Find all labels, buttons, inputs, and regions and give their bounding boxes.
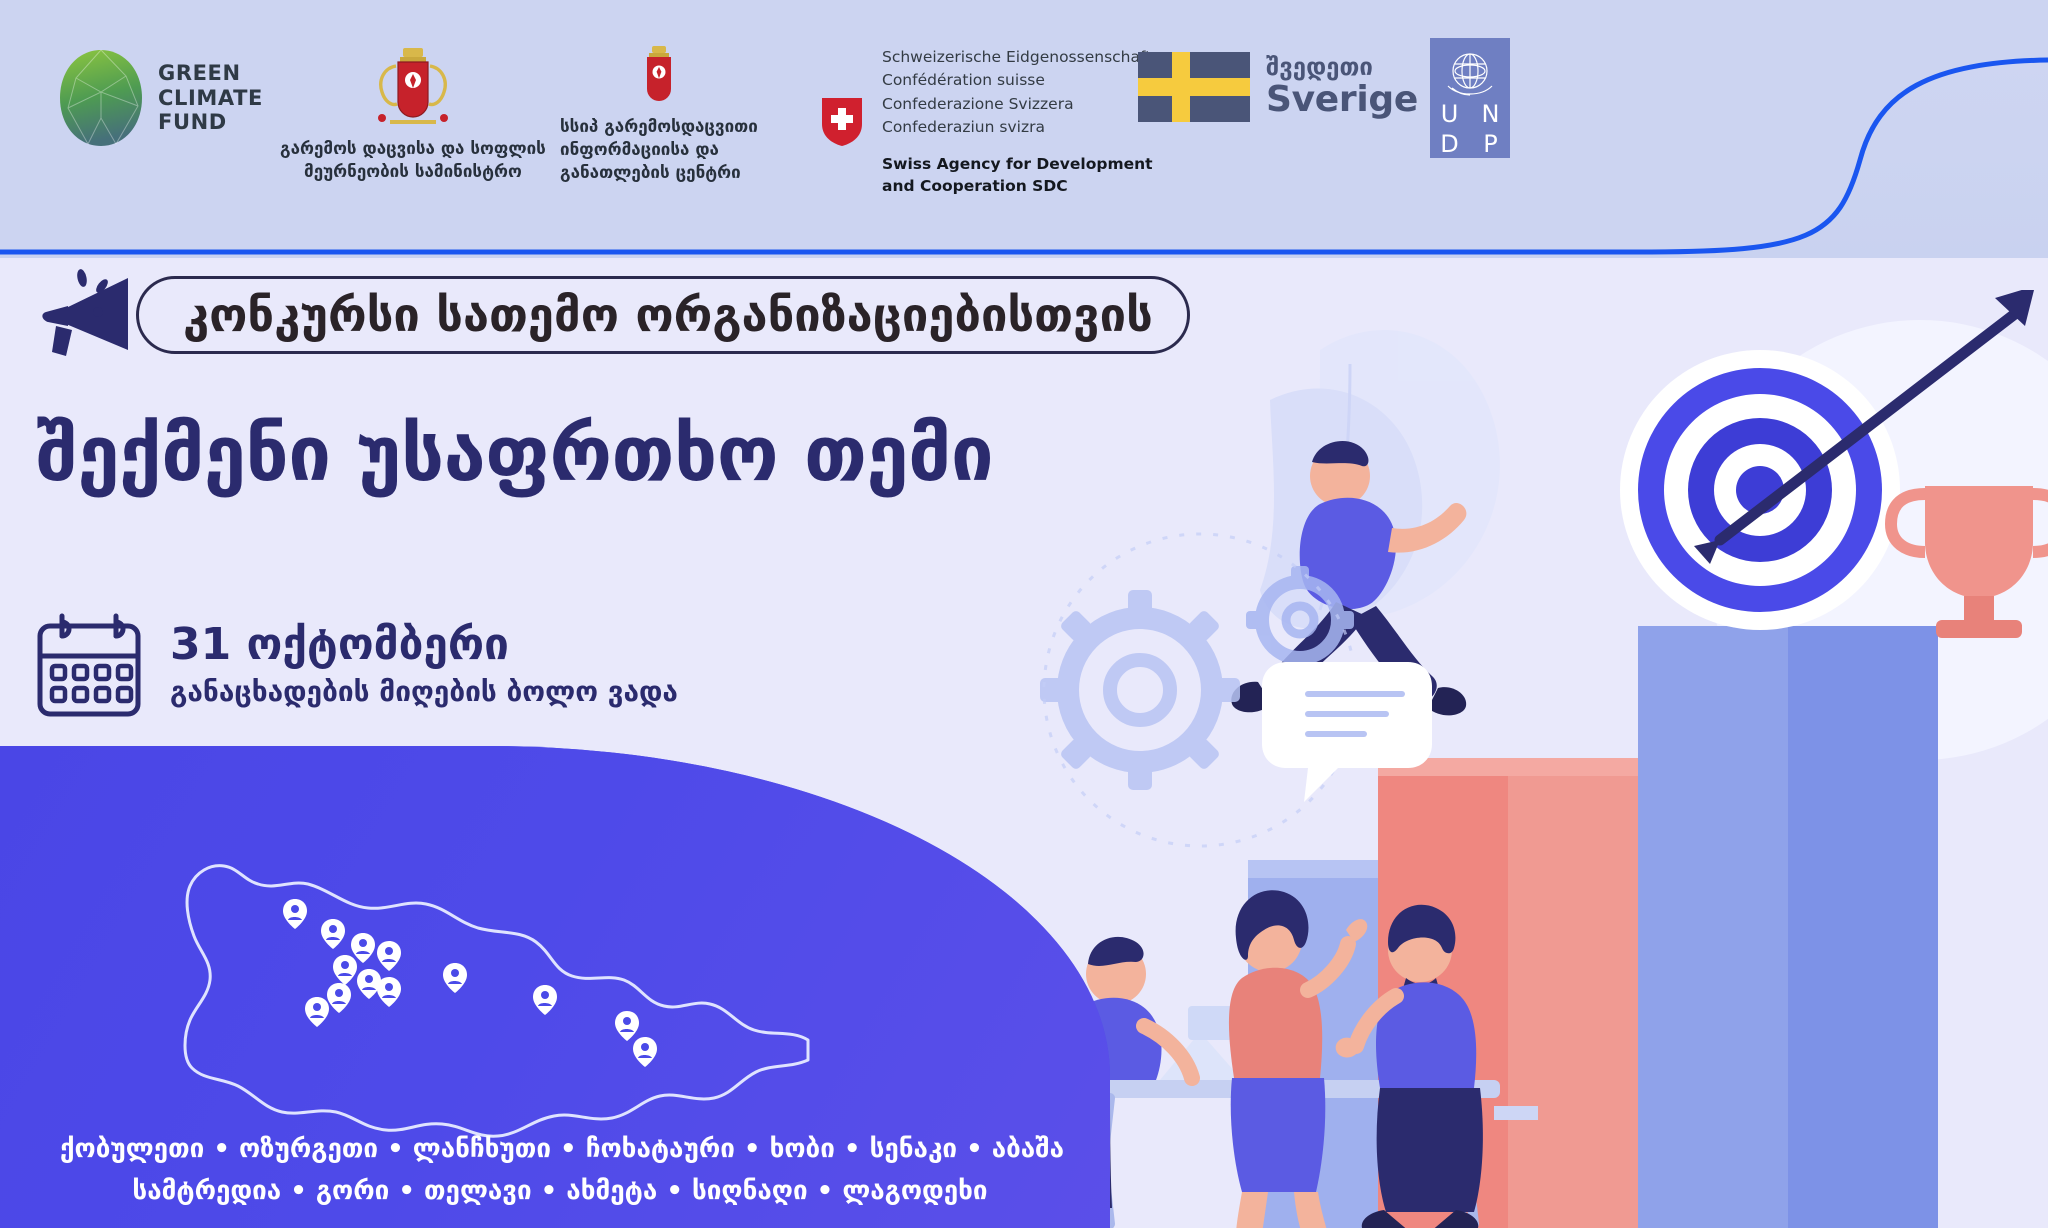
georgia-coat-of-arms-icon	[370, 44, 456, 132]
undp-logo: U N D P	[1430, 38, 1510, 158]
trophy-icon	[1891, 486, 2048, 638]
ministry-logo: გარემოს დაცვისა და სოფლის მეურნეობის სამ…	[280, 44, 546, 184]
partner-logo-row: GREEN CLIMATE FUND	[0, 0, 1560, 210]
header-band: GREEN CLIMATE FUND	[0, 0, 2048, 258]
undp-logo-box: U N D P	[1430, 38, 1510, 158]
map-pin[interactable]	[442, 962, 468, 994]
swiss-sdc-logo: Schweizerische Eidgenossenschaft Confédé…	[820, 46, 1153, 198]
target-icon	[1620, 350, 1900, 630]
banner-pill: კონკურსი სათემო ორგანიზაციებისთვის	[136, 276, 1190, 354]
ssip-caption-line-2: ინფორმაციისა და	[560, 139, 758, 162]
gcf-line-2: CLIMATE	[158, 86, 263, 111]
gcf-gem-icon	[58, 48, 144, 148]
banner-text: კონკურსი სათემო ორგანიზაციებისთვის	[183, 292, 1153, 339]
sverige-en-label: Sverige	[1266, 80, 1418, 120]
map-pin[interactable]	[282, 898, 308, 930]
sverige-ka-label: შვედეთი	[1266, 54, 1418, 80]
ssip-caption-line-1: სსიპ გარემოსდაცვითი	[560, 116, 758, 139]
page-title: შექმენი უსაფრთხო თემი	[36, 412, 993, 496]
map-pin[interactable]	[376, 976, 402, 1008]
municipality-line-2: სამტრედია • გორი • თელავი • ახმეტა • სიღ…	[60, 1170, 1060, 1212]
ssip-coat-of-arms-icon	[637, 44, 681, 110]
sverige-wordmark: შვედეთი Sverige	[1266, 54, 1418, 120]
deadline-label: განაცხადების მიღების ბოლო ვადა	[170, 674, 678, 709]
ssip-caption: სსიპ გარემოსდაცვითი ინფორმაციისა და განა…	[560, 116, 758, 185]
swiss-lang-1: Schweizerische Eidgenossenschaft	[882, 46, 1153, 69]
deadline-text: 31 ოქტომბერი განაცხადების მიღების ბოლო ვ…	[170, 612, 678, 709]
undp-letter-d: D	[1430, 130, 1469, 158]
map-pin[interactable]	[304, 996, 330, 1028]
undp-letter-u: U	[1430, 100, 1469, 128]
gcf-logo: GREEN CLIMATE FUND	[58, 48, 263, 148]
ministry-caption-line-2: მეურნეობის სამინისტრო	[280, 161, 546, 184]
ministry-caption-line-1: გარემოს დაცვისა და სოფლის	[280, 138, 546, 161]
swiss-agency-line-2: and Cooperation SDC	[882, 175, 1153, 197]
municipality-list: ქობულეთი • ოზურგეთი • ლანჩხუთი • ჩოხატაუ…	[60, 1128, 1060, 1212]
map-pin[interactable]	[320, 918, 346, 950]
ministry-caption: გარემოს დაცვისა და სოფლის მეურნეობის სამ…	[280, 138, 546, 184]
deadline-block: 31 ოქტომბერი განაცხადების მიღების ბოლო ვ…	[34, 612, 678, 720]
undp-letter-grid: U N D P	[1430, 100, 1510, 158]
map-pin[interactable]	[632, 1036, 658, 1068]
sweden-flag-icon	[1138, 52, 1250, 122]
megaphone-icon	[36, 268, 148, 364]
ssip-logo: სსიპ გარემოსდაცვითი ინფორმაციისა და განა…	[560, 44, 758, 185]
gcf-wordmark: GREEN CLIMATE FUND	[158, 61, 263, 135]
undp-letter-n: N	[1471, 100, 1510, 128]
map-pin-layer	[180, 824, 820, 1144]
poster-canvas: GREEN CLIMATE FUND	[0, 0, 2048, 1228]
banner-pill-wrap: კონკურსი სათემო ორგანიზაციებისთვის	[36, 262, 1436, 372]
swiss-lang-3: Confederazione Svizzera	[882, 93, 1153, 116]
swiss-shield-icon	[820, 96, 864, 148]
swiss-lang-2: Confédération suisse	[882, 69, 1153, 92]
deadline-date: 31 ოქტომბერი	[170, 622, 678, 668]
undp-letter-p: P	[1471, 130, 1510, 158]
ssip-caption-line-3: განათლების ცენტრი	[560, 162, 758, 185]
main-illustration	[1020, 290, 2048, 1228]
swiss-lang-4: Confederaziun svizra	[882, 116, 1153, 139]
calendar-icon	[34, 612, 144, 720]
un-emblem-icon	[1438, 46, 1502, 96]
gcf-line-1: GREEN	[158, 61, 263, 86]
swiss-text-block: Schweizerische Eidgenossenschaft Confédé…	[882, 46, 1153, 198]
sverige-logo: შვედეთი Sverige	[1138, 52, 1418, 122]
swiss-agency-line-1: Swiss Agency for Development	[882, 153, 1153, 175]
gcf-line-3: FUND	[158, 110, 263, 135]
map-pin[interactable]	[532, 984, 558, 1016]
municipality-line-1: ქობულეთი • ოზურგეთი • ლანჩხუთი • ჩოხატაუ…	[60, 1128, 1060, 1170]
